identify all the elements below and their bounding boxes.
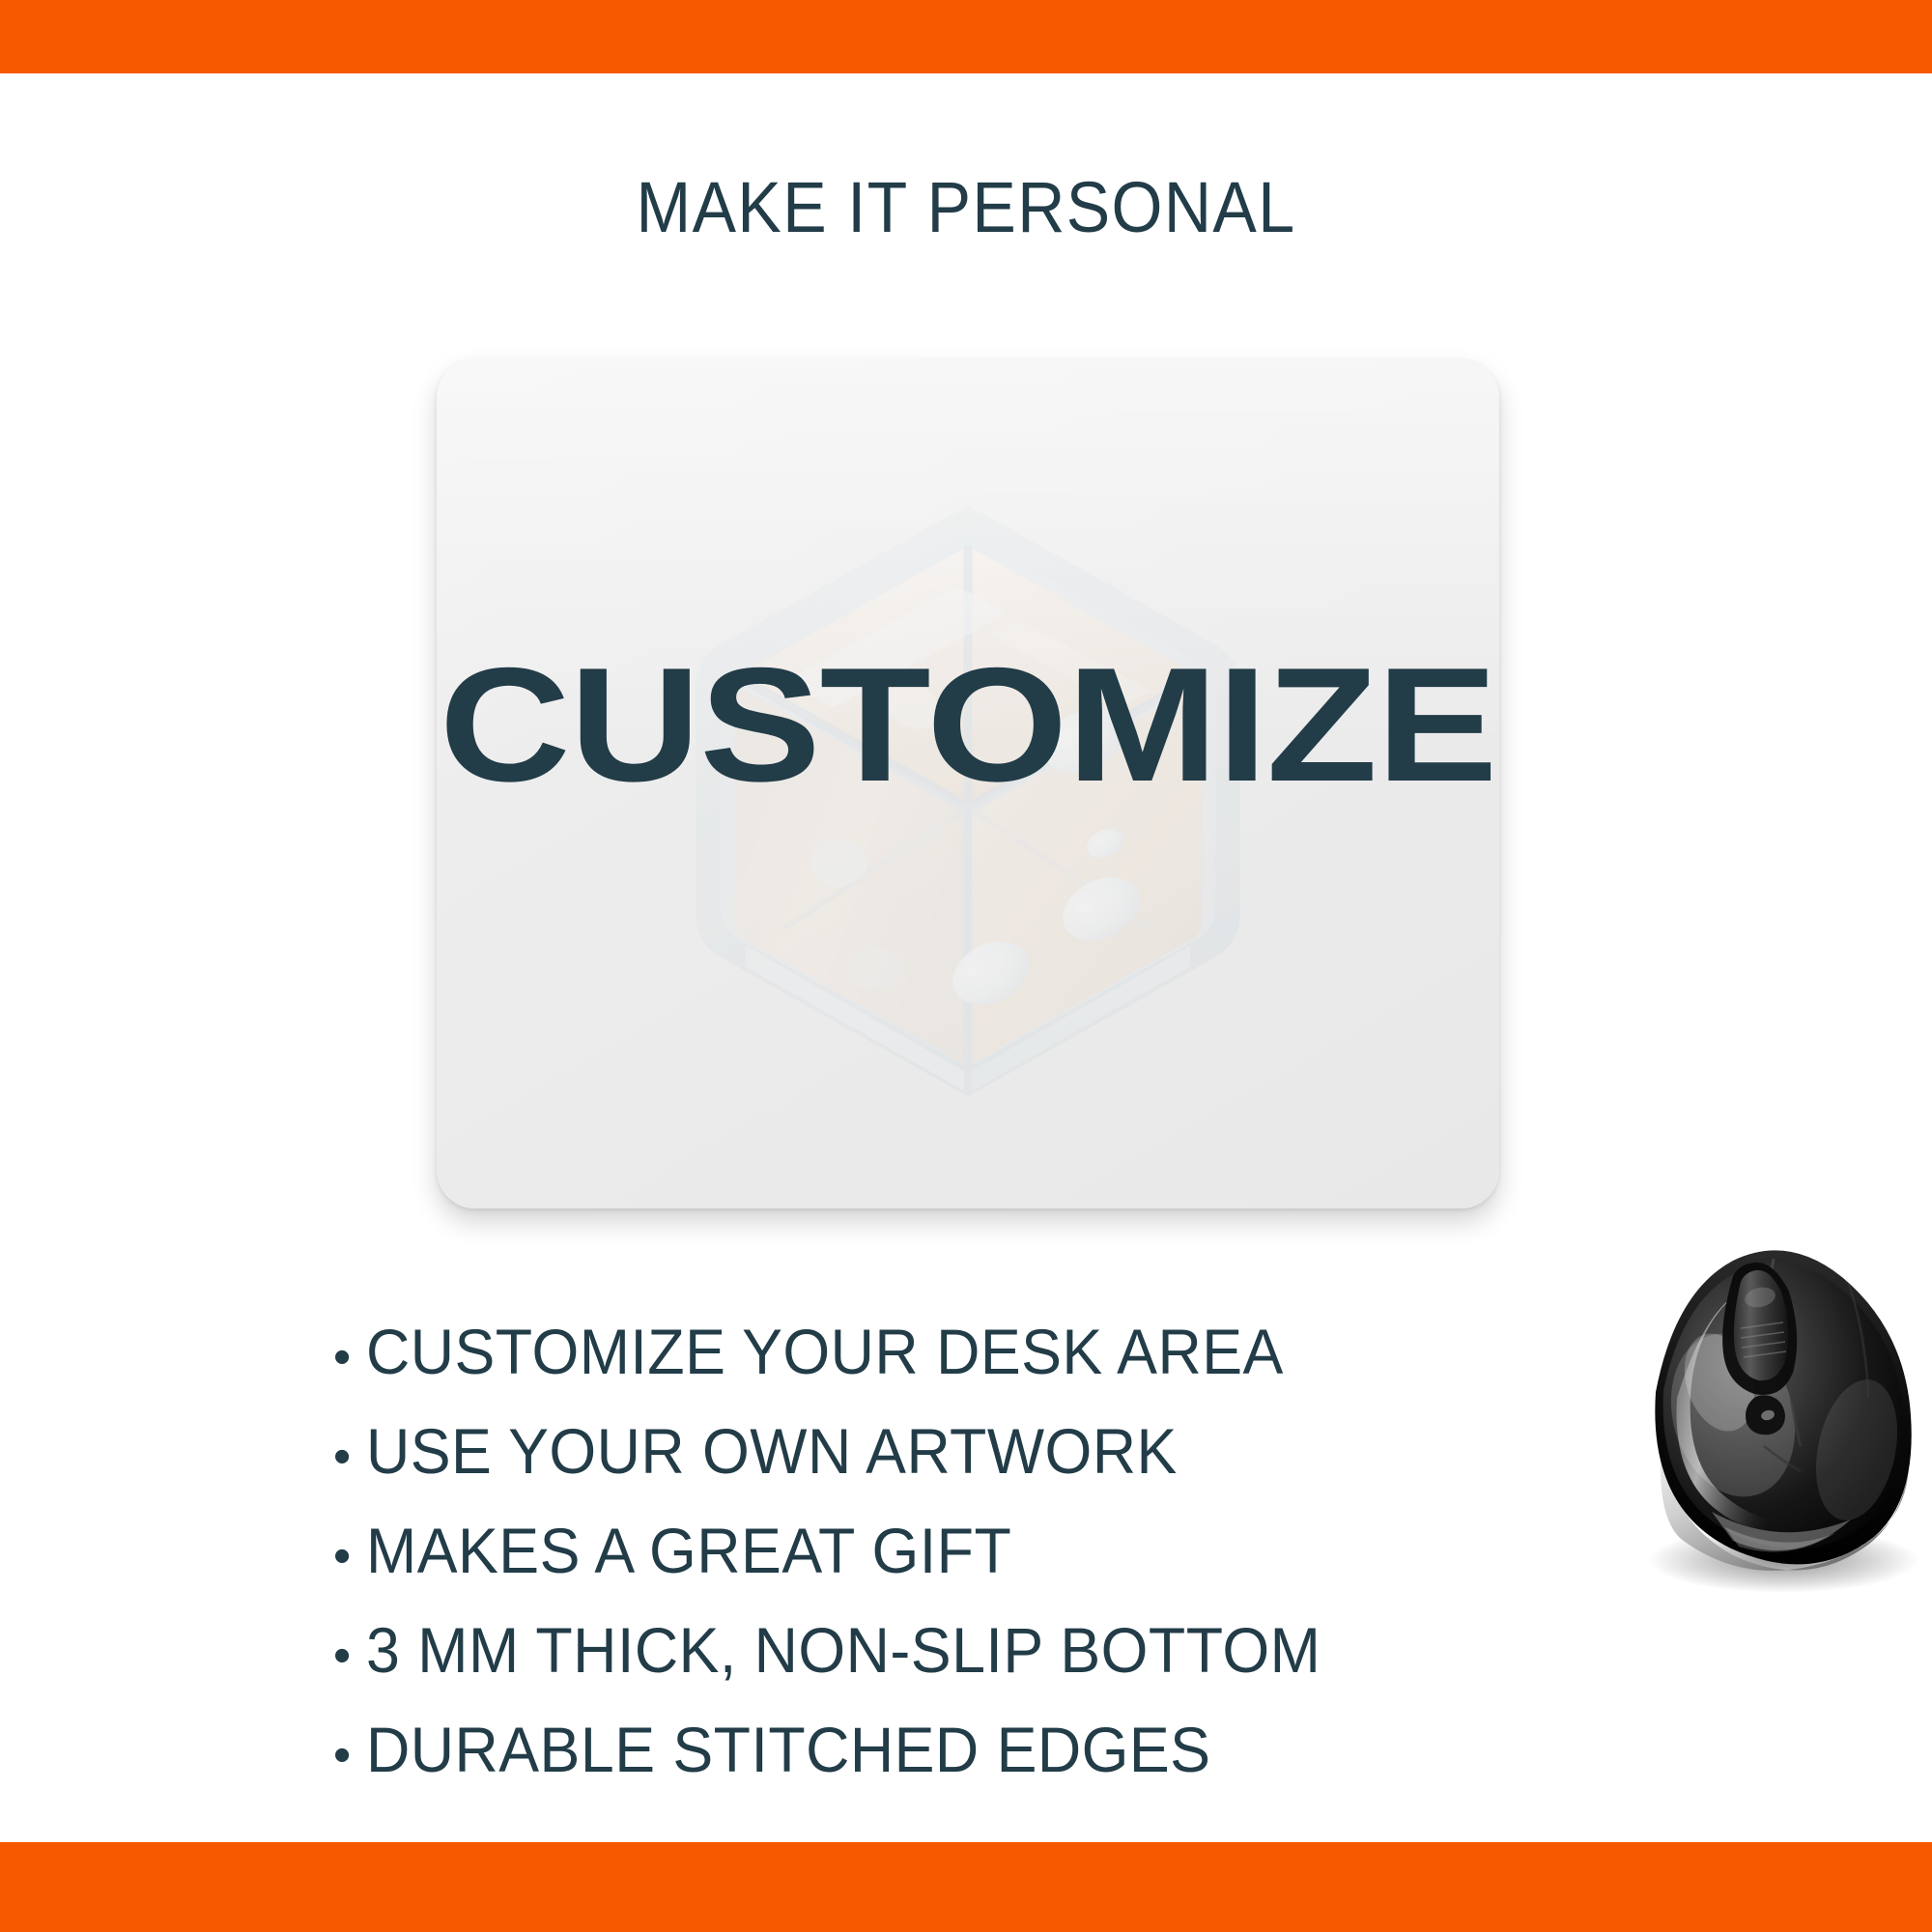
list-item: • USE YOUR OWN ARTWORK xyxy=(333,1419,1686,1483)
bullet-icon: • xyxy=(333,1332,366,1382)
product-infographic: MAKE IT PERSONAL xyxy=(0,0,1932,1932)
feature-label: 3 MM THICK, NON-SLIP BOTTOM xyxy=(366,1618,1321,1682)
mousepad-surface: CUSTOMIZE xyxy=(437,358,1499,1208)
top-accent-bar xyxy=(0,0,1932,73)
feature-label: CUSTOMIZE YOUR DESK AREA xyxy=(366,1320,1284,1383)
bullet-icon: • xyxy=(333,1631,366,1681)
list-item: • MAKES A GREAT GIFT xyxy=(333,1519,1686,1582)
feature-label: USE YOUR OWN ARTWORK xyxy=(366,1419,1178,1483)
feature-label: MAKES A GREAT GIFT xyxy=(366,1519,1011,1582)
list-item: • 3 MM THICK, NON-SLIP BOTTOM xyxy=(333,1618,1686,1682)
mousepad-hero: CUSTOMIZE xyxy=(437,358,1499,1208)
bullet-icon: • xyxy=(333,1531,366,1581)
page-title: MAKE IT PERSONAL xyxy=(77,172,1855,243)
customize-imprint-text: CUSTOMIZE xyxy=(437,643,1499,806)
list-item: • DURABLE STITCHED EDGES xyxy=(333,1718,1686,1781)
feature-label: DURABLE STITCHED EDGES xyxy=(366,1718,1210,1781)
list-item: • CUSTOMIZE YOUR DESK AREA xyxy=(333,1320,1686,1383)
bullet-icon: • xyxy=(333,1432,366,1482)
bullet-icon: • xyxy=(333,1730,366,1780)
feature-list: • CUSTOMIZE YOUR DESK AREA • USE YOUR OW… xyxy=(333,1320,1686,1817)
bottom-accent-bar xyxy=(0,1842,1932,1932)
